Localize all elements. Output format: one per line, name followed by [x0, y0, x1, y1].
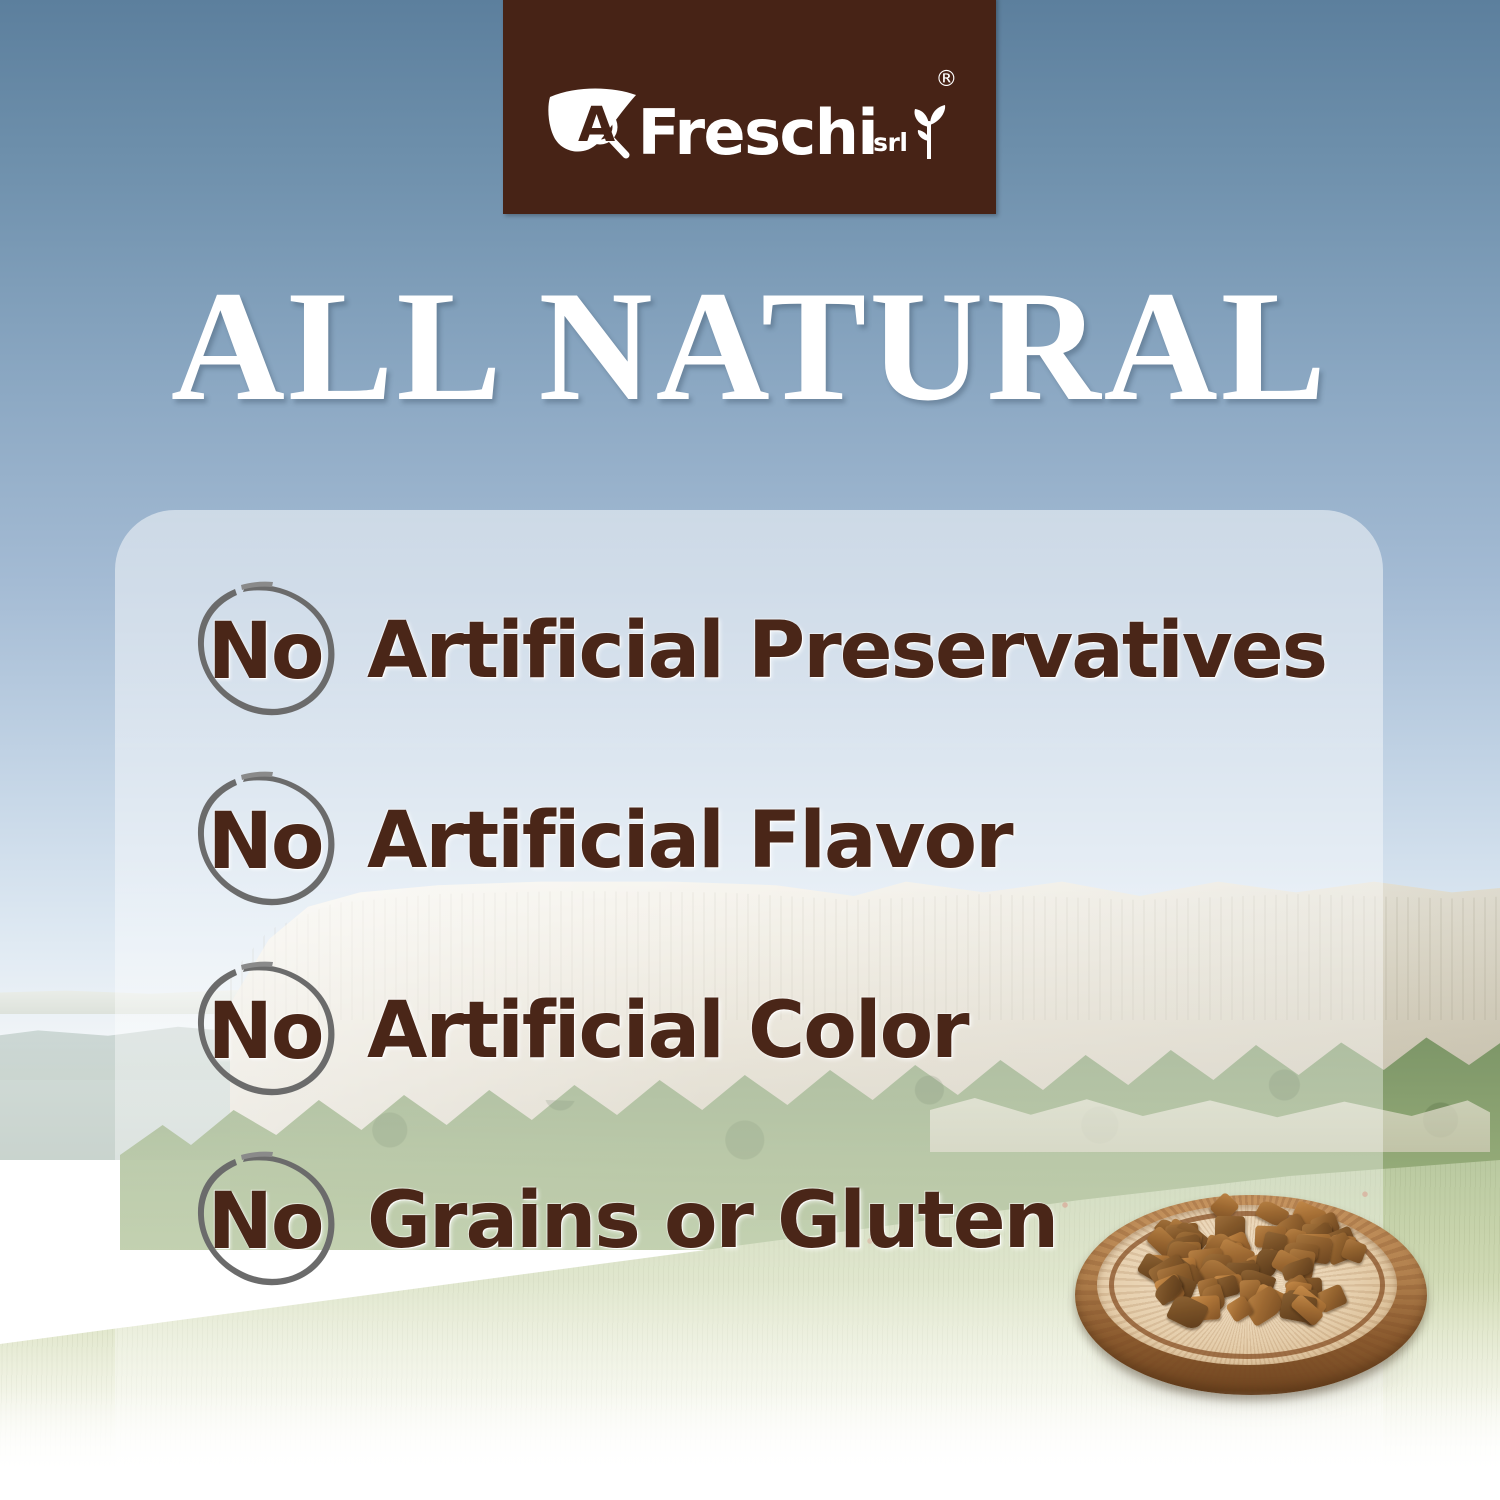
- sprout-icon: [909, 101, 951, 159]
- list-item: No Artificial Color: [185, 936, 1445, 1126]
- brand-legal-suffix: srl: [873, 128, 907, 157]
- no-label: No: [208, 1183, 323, 1261]
- list-item: No Artificial Preservatives: [185, 556, 1445, 746]
- promo-image-canvas: A Freschi srl ® ALL NATURAL: [0, 0, 1500, 1500]
- claim-text: Grains or Gluten: [367, 1182, 1057, 1260]
- page-title: ALL NATURAL: [0, 268, 1500, 426]
- claim-text: Artificial Color: [367, 992, 968, 1070]
- list-item: No Artificial Flavor: [185, 746, 1445, 936]
- no-badge: No: [185, 571, 345, 731]
- no-label: No: [208, 803, 323, 881]
- claim-text: Artificial Preservatives: [367, 612, 1326, 690]
- no-label: No: [208, 613, 323, 691]
- registered-trademark-icon: ®: [935, 67, 957, 92]
- no-label: No: [208, 993, 323, 1071]
- claim-text: Artificial Flavor: [367, 802, 1012, 880]
- brand-logo-lockup: A Freschi srl ®: [548, 49, 952, 161]
- no-badge: No: [185, 761, 345, 921]
- bottom-white-fade: [0, 1390, 1500, 1500]
- no-badge: No: [185, 1141, 345, 1301]
- treat-pile: [1121, 1177, 1381, 1349]
- brand-wordmark: Freschi: [638, 104, 878, 161]
- brand-logo-bar: A Freschi srl ®: [503, 0, 996, 214]
- svg-text:A: A: [578, 97, 615, 153]
- no-badge: No: [185, 951, 345, 1111]
- leaf-magnifier-icon: A: [548, 83, 644, 161]
